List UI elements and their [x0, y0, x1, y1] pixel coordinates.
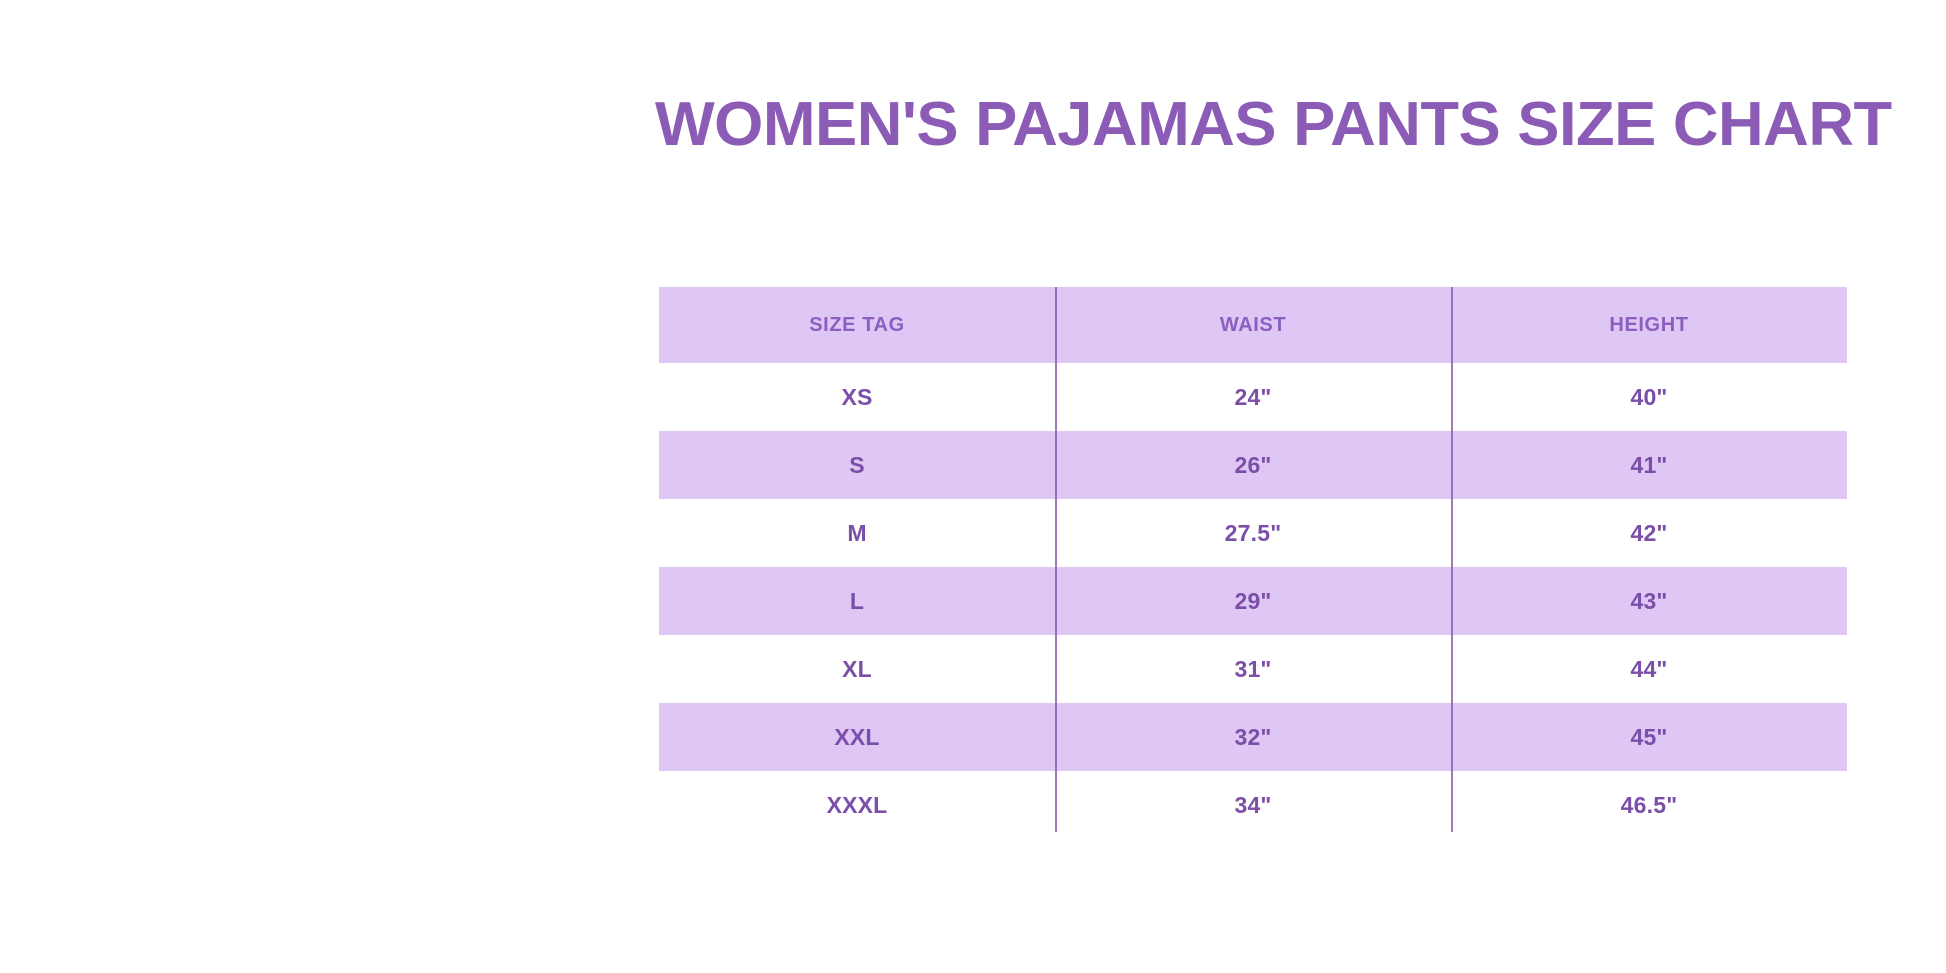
cell-waist: 26" — [1055, 431, 1451, 499]
cell-size-tag: XXL — [659, 703, 1055, 771]
page-title: WOMEN'S PAJAMAS PANTS SIZE CHART — [655, 85, 1935, 165]
cell-size-tag: XS — [659, 363, 1055, 431]
cell-size-tag: L — [659, 567, 1055, 635]
cell-waist: 32" — [1055, 703, 1451, 771]
cell-height: 46.5" — [1451, 771, 1847, 839]
table-body: XS 24" 40" S 26" 41" M 27.5" 42" L 29" 4… — [659, 363, 1847, 839]
column-header-height: HEIGHT — [1451, 287, 1847, 363]
cell-waist: 24" — [1055, 363, 1451, 431]
cell-height: 40" — [1451, 363, 1847, 431]
table-row: XL 31" 44" — [659, 635, 1847, 703]
table-row: S 26" 41" — [659, 431, 1847, 499]
column-header-size-tag: SIZE TAG — [659, 287, 1055, 363]
table-row: XS 24" 40" — [659, 363, 1847, 431]
cell-size-tag: XXXL — [659, 771, 1055, 839]
column-divider-height — [1451, 287, 1453, 832]
size-chart-table: SIZE TAG WAIST HEIGHT XS 24" 40" S 26" 4… — [659, 287, 1847, 839]
cell-size-tag: XL — [659, 635, 1055, 703]
cell-height: 45" — [1451, 703, 1847, 771]
cell-waist: 31" — [1055, 635, 1451, 703]
cell-size-tag: S — [659, 431, 1055, 499]
table-header-row: SIZE TAG WAIST HEIGHT — [659, 287, 1847, 363]
table-row: XXL 32" 45" — [659, 703, 1847, 771]
column-divider-waist — [1055, 287, 1057, 832]
table-row: M 27.5" 42" — [659, 499, 1847, 567]
cell-waist: 27.5" — [1055, 499, 1451, 567]
cell-waist: 34" — [1055, 771, 1451, 839]
cell-height: 41" — [1451, 431, 1847, 499]
cell-waist: 29" — [1055, 567, 1451, 635]
cell-size-tag: M — [659, 499, 1055, 567]
cell-height: 43" — [1451, 567, 1847, 635]
table-row: L 29" 43" — [659, 567, 1847, 635]
column-header-waist: WAIST — [1055, 287, 1451, 363]
cell-height: 42" — [1451, 499, 1847, 567]
cell-height: 44" — [1451, 635, 1847, 703]
table-row: XXXL 34" 46.5" — [659, 771, 1847, 839]
